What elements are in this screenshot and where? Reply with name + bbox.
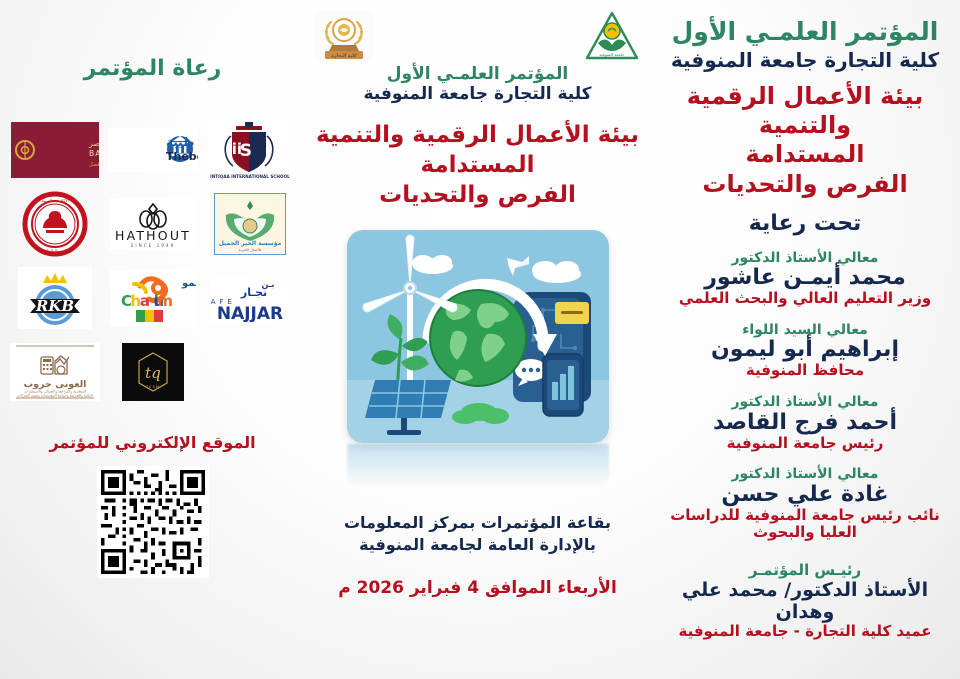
svg-text:HATHOUT: HATHOUT xyxy=(114,228,190,243)
patron-1: معالي الأستاذ الدكتور محمد أيمـن عاشور و… xyxy=(660,250,950,308)
sponsor-logo-grid: ii S INTIQAA INTERNATIONAL SCHOOL xyxy=(8,119,297,403)
center-title: بيئة الأعمال الرقمية والتنمية المستدامة … xyxy=(309,121,646,211)
patron-3: معالي الأستاذ الدكتور أحمد فرج القاصد رئ… xyxy=(660,394,950,452)
website-label: الموقع الإلكتروني للمؤتمر xyxy=(8,433,297,452)
menoufia-university-logo: جامعة المنوفية xyxy=(584,10,640,64)
svg-text:بنك مصر: بنك مصر xyxy=(88,139,99,148)
patron-4-role-top: معالي الأستاذ الدكتور xyxy=(660,466,950,483)
svg-text:tq: tq xyxy=(145,364,161,382)
sponsor-logo-arab-academy-red-seal[interactable]: الأكاديمية العربية للعلوم والتكنولوجيا xyxy=(9,193,101,255)
svg-text:NAJJAR: NAJJAR xyxy=(217,304,283,322)
patron-2: معالي السيد اللواء إبراهيم أبو ليمون محا… xyxy=(660,322,950,380)
svg-text:نعمل معاً لحياة أفضل: نعمل معاً لحياة أفضل xyxy=(89,160,99,168)
sponsor-logo-cafe-najjar[interactable]: بـن نجـار CAFE NAJJAR xyxy=(204,267,296,329)
left-title-line2: المستدامة xyxy=(660,140,950,169)
svg-text:SINCE 1949: SINCE 1949 xyxy=(130,243,175,248)
svg-text:للعلوم والتكنولوجيا: للعلوم والتكنولوجيا xyxy=(39,248,70,253)
patron-1-name: محمد أيمـن عاشور xyxy=(660,265,950,291)
svg-text:نجـار: نجـار xyxy=(240,286,267,299)
conference-date: الأربعاء الموافق 4 فبراير 2026 م xyxy=(309,578,646,598)
svg-text:RKB: RKB xyxy=(35,297,74,315)
patron-2-name: إبراهيم أبو ليمون xyxy=(660,337,950,363)
svg-text:أكاديمية طيبة: أكاديمية طيبة xyxy=(166,134,198,149)
svg-text:TEAM: TEAM xyxy=(145,385,160,389)
left-title-line1: بيئة الأعمال الرقمية والتنمية xyxy=(660,82,950,141)
center-column: جامعة المنوفية xyxy=(305,0,650,679)
faculty-of-commerce-logo: كلية التجارة xyxy=(315,10,373,62)
sponsor-logo-thebes-academy[interactable]: أكاديمية طيبة Thebes Academy xyxy=(107,119,199,181)
left-heading-line2: كلية التجارة جامعة المنوفية xyxy=(660,48,950,72)
chair-name: الأستاذ الدكتور/ محمد علي وهدان xyxy=(660,579,950,624)
svg-text:INTIQAA INTERNATIONAL SCHOOL: INTIQAA INTERNATIONAL SCHOOL xyxy=(210,174,290,179)
patron-4-role-bottom: نائب رئيس جامعة المنوفية للدراسات العليا… xyxy=(660,507,950,542)
patron-2-role-top: معالي السيد اللواء xyxy=(660,322,950,339)
center-title-line2: المستدامة xyxy=(309,151,646,181)
center-title-line3: الفرص والتحديات xyxy=(309,181,646,211)
sponsor-logo-hathout[interactable]: HATHOUT SINCE 1949 xyxy=(107,193,199,255)
svg-text:للأعمال الخيرية: للأعمال الخيرية xyxy=(239,247,262,252)
patron-2-role-bottom: محافظ المنوفية xyxy=(660,362,950,380)
svg-text:شاليمو: شاليمو xyxy=(181,278,196,289)
patron-3-role-bottom: رئيس جامعة المنوفية xyxy=(660,435,950,453)
chair-role-bottom: عميد كلية التجارة - جامعة المنوفية xyxy=(660,623,950,641)
conference-website-qr-code[interactable] xyxy=(97,466,209,578)
left-title-line3: الفرص والتحديات xyxy=(660,170,950,199)
sponsor-logo-iis-intiqaa-international-school[interactable]: ii S INTIQAA INTERNATIONAL SCHOOL xyxy=(204,119,296,181)
svg-text:العونى جروب: العونى جروب xyxy=(23,379,86,390)
svg-text:المالية والضريبية وحوكمة المؤس: المالية والضريبية وحوكمة المؤسسات وتقييم… xyxy=(17,394,92,398)
svg-text:كلية التجارة: كلية التجارة xyxy=(331,53,357,59)
patron-1-role-bottom: وزير التعليم العالي والبحث العلمي xyxy=(660,290,950,308)
venue-line1: بقاعة المؤتمرات بمركز المعلومات xyxy=(309,512,646,534)
svg-text:جامعة المنوفية: جامعة المنوفية xyxy=(599,52,625,57)
sponsor-grid-spacer xyxy=(204,341,296,403)
patron-4: معالي الأستاذ الدكتور غادة علي حسن نائب … xyxy=(660,466,950,542)
program-column: المؤتمر العلمـي الأول كلية التجارة جامعة… xyxy=(650,0,960,679)
sponsor-logo-al-aouny-group[interactable]: العونى جروب المحاسبة والمراجعة والضرائب … xyxy=(9,341,101,403)
sponsor-logo-banque-misr[interactable]: بنك مصر BANQUE MISR نعمل معاً لحياة أفضل xyxy=(9,119,101,181)
patron-3-role-top: معالي الأستاذ الدكتور xyxy=(660,394,950,411)
svg-text:Thebes Academy: Thebes Academy xyxy=(166,150,198,163)
patron-3-name: أحمد فرج القاصد xyxy=(660,410,950,436)
svg-text:الأكاديمية العربية: الأكاديمية العربية xyxy=(41,198,68,203)
conference-chair: رئيـس المؤتمـر الأستاذ الدكتور/ محمد علي… xyxy=(660,562,950,640)
sponsor-logo-tq-gold[interactable]: tq TEAM xyxy=(107,341,199,403)
illustration-reflection xyxy=(347,444,609,488)
sponsors-title: رعاة المؤتمر xyxy=(8,56,297,81)
green-digital-economy-illustration xyxy=(347,230,609,443)
svg-text:مؤسسة الخير الجميل: مؤسسة الخير الجميل xyxy=(219,240,282,247)
patron-1-role-top: معالي الأستاذ الدكتور xyxy=(660,250,950,267)
sponsor-logo-al-khair-al-jameel-foundation[interactable]: مؤسسة الخير الجميل للأعمال الخيرية xyxy=(204,193,296,255)
center-logo-row: جامعة المنوفية xyxy=(309,6,646,68)
center-heading-line2: كلية التجارة جامعة المنوفية xyxy=(309,84,646,104)
svg-text:a: a xyxy=(139,292,149,310)
svg-text:S: S xyxy=(240,141,252,161)
center-title-line1: بيئة الأعمال الرقمية والتنمية xyxy=(309,121,646,151)
illustration-wrapper xyxy=(347,230,609,488)
under-patronage-label: تحت رعاية xyxy=(660,211,950,236)
sponsor-logo-rkb[interactable]: RKB xyxy=(9,267,101,329)
center-heading-line1: المؤتمر العلمـي الأول xyxy=(309,64,646,84)
patron-4-name: غادة علي حسن xyxy=(660,482,950,508)
venue-line2: بالإدارة العامة لجامعة المنوفية xyxy=(309,534,646,556)
chair-role-top: رئيـس المؤتمـر xyxy=(660,562,950,580)
svg-text:m: m xyxy=(157,292,173,310)
sponsors-column: رعاة المؤتمر ii S INTIQAA INTERNATION xyxy=(0,0,305,679)
left-title: بيئة الأعمال الرقمية والتنمية المستدامة … xyxy=(660,82,950,199)
sponsor-logo-chalumeau[interactable]: شاليمو C h a l u m xyxy=(107,267,199,329)
left-heading-line1: المؤتمر العلمـي الأول xyxy=(660,18,950,47)
conference-poster: رعاة المؤتمر ii S INTIQAA INTERNATION xyxy=(0,0,960,679)
svg-text:BANQUE MISR: BANQUE MISR xyxy=(89,149,99,158)
venue-text: بقاعة المؤتمرات بمركز المعلومات بالإدارة… xyxy=(309,512,646,555)
